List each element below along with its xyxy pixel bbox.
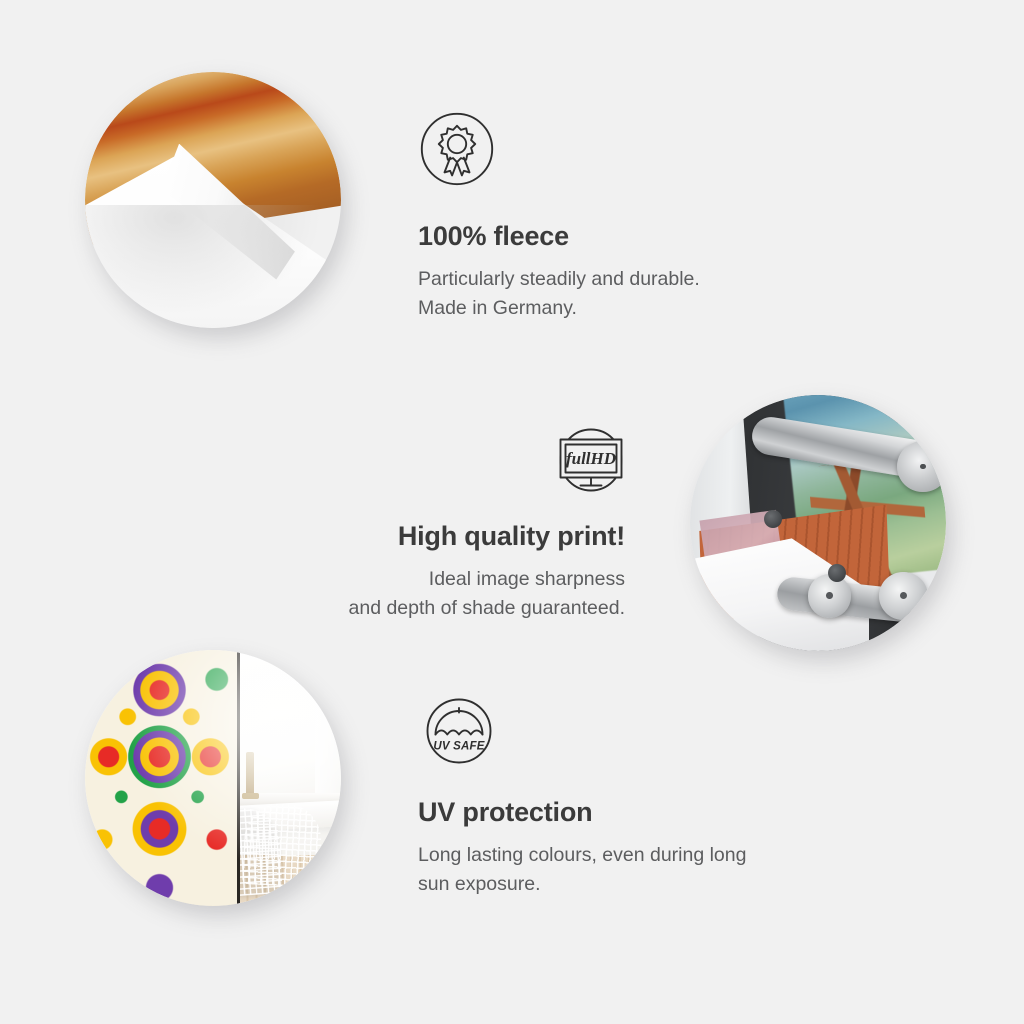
uv-safe-umbrella-icon: UV SAFE bbox=[422, 694, 496, 768]
feature-text-uv: UV protection Long lasting colours, even… bbox=[418, 798, 746, 899]
room-window bbox=[228, 655, 315, 803]
printer-roller-cap bbox=[897, 441, 946, 492]
large-format-printer-photo bbox=[690, 395, 946, 651]
feature-title: 100% fleece bbox=[418, 222, 700, 252]
printer-knob-lower bbox=[828, 564, 846, 582]
infographic-canvas: 100% fleece Particularly steadily and du… bbox=[0, 0, 1024, 1024]
room-wire-chair-back bbox=[242, 802, 323, 888]
mandala-wallpaper-room-photo bbox=[85, 650, 341, 906]
feature-description: Particularly steadily and durable. Made … bbox=[418, 265, 700, 324]
feature-text-fleece: 100% fleece Particularly steadily and du… bbox=[418, 222, 700, 323]
fullhd-monitor-icon: fullHD bbox=[552, 422, 630, 498]
printer-wheel-left bbox=[808, 574, 852, 618]
photo-inner bbox=[85, 72, 341, 328]
printer-wheel-right bbox=[879, 572, 928, 621]
feature-title: UV protection bbox=[418, 798, 746, 828]
peeling-fleece-wallpaper-photo bbox=[85, 72, 341, 328]
room-candlestick bbox=[246, 752, 254, 796]
feature-text-print: High quality print! Ideal image sharpnes… bbox=[205, 522, 625, 623]
photo-inner bbox=[85, 650, 341, 906]
award-rosette-icon bbox=[420, 112, 494, 186]
feature-description: Long lasting colours, even during long s… bbox=[418, 841, 746, 900]
wallpaper-soft-shading bbox=[85, 205, 341, 328]
feature-description: Ideal image sharpness and depth of shade… bbox=[205, 565, 625, 624]
mandala-wallpaper-panel bbox=[85, 650, 239, 906]
feature-title: High quality print! bbox=[205, 522, 625, 552]
fullhd-icon-label: fullHD bbox=[566, 449, 616, 468]
uv-safe-icon-label: UV SAFE bbox=[433, 741, 484, 753]
photo-inner bbox=[690, 395, 946, 651]
